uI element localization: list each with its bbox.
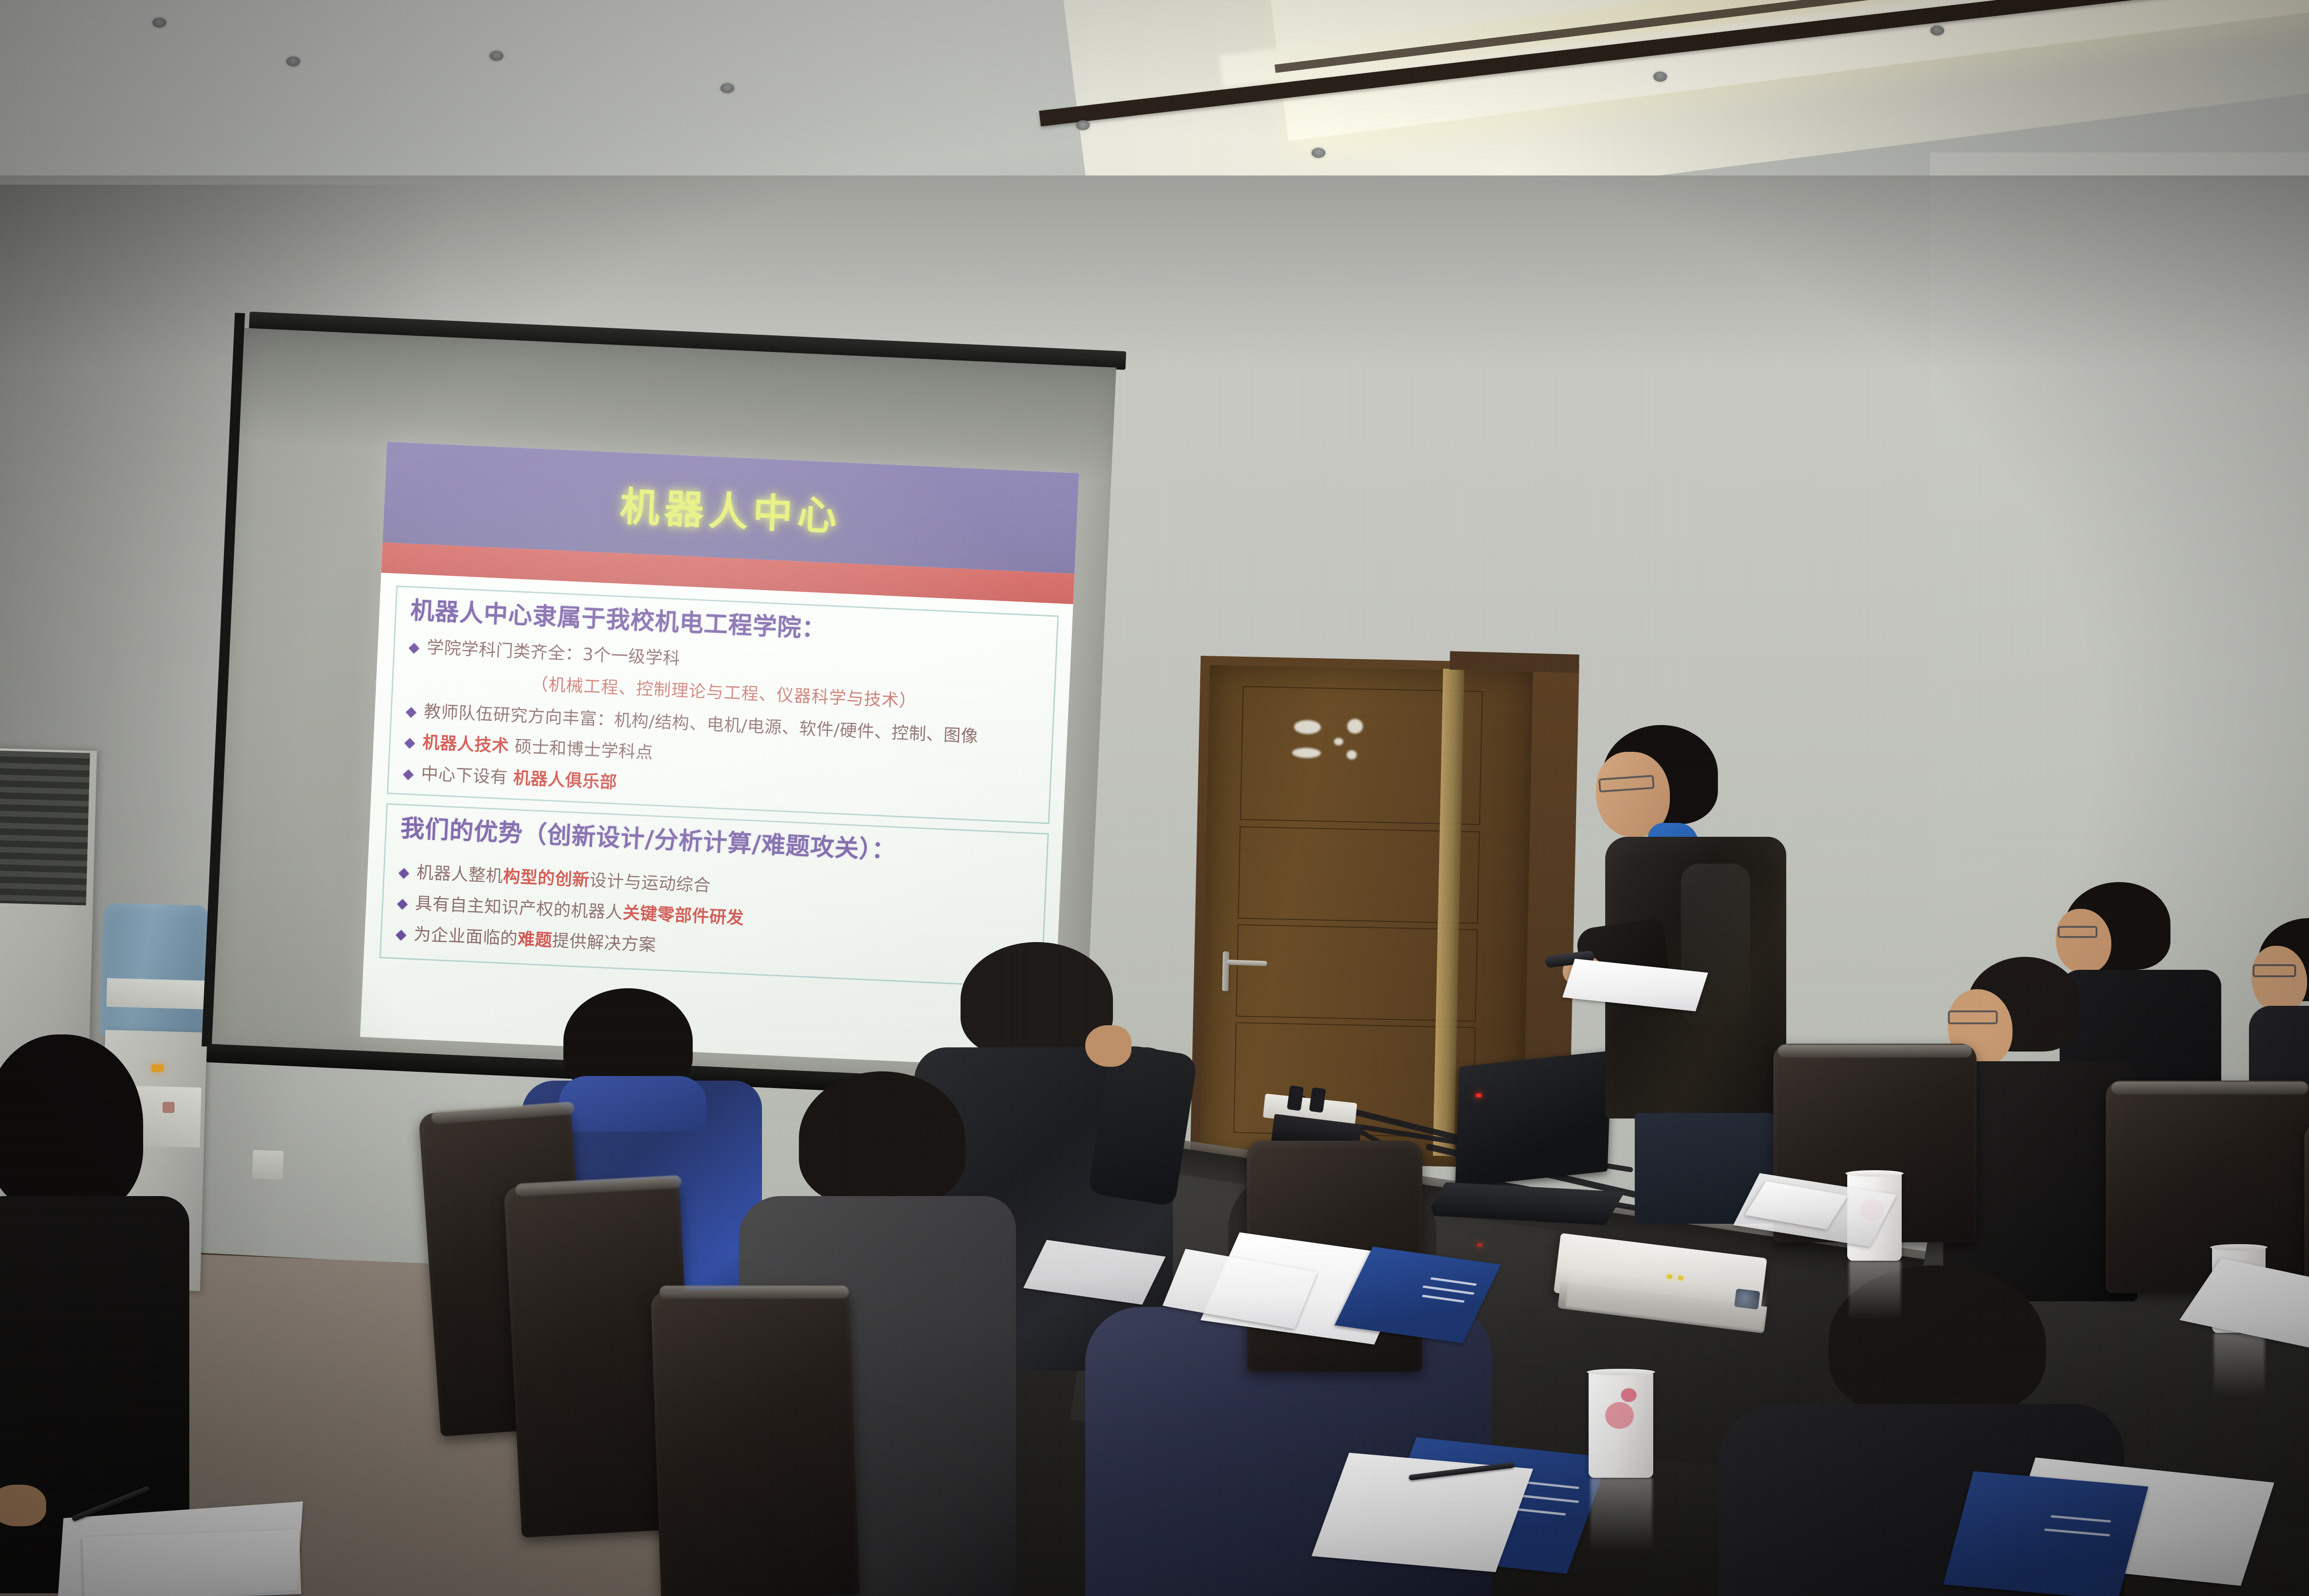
notebook-title-line <box>2044 1529 2110 1536</box>
paper-cup-rim <box>1845 1170 1904 1177</box>
bullet-diamond-icon: ◆ <box>397 897 408 911</box>
notepad-pages[interactable] <box>1312 1453 1533 1572</box>
chair-rim <box>1778 1045 1972 1058</box>
slide-bullet-text: 具有自主知识产权的机器人关键零部件研发 <box>415 893 744 928</box>
bullet-diamond-icon: ◆ <box>403 767 414 781</box>
paper-cup-rim <box>1587 1369 1655 1375</box>
notebook-page-left[interactable] <box>82 1529 302 1596</box>
attendee-hair <box>799 1071 965 1205</box>
paper-cup-motif <box>1621 1388 1637 1402</box>
slide-bullet-text: 机器人整机构型的创新设计与运动综合 <box>416 862 711 896</box>
bullet-diamond-icon: ◆ <box>408 641 419 655</box>
slide-title: 机器人中心 <box>619 474 843 542</box>
slide-bullet-text: 中心下设有 机器人俱乐部 <box>421 763 617 792</box>
notebook-cover[interactable] <box>1943 1471 2148 1596</box>
paper-cup-reflection <box>1590 1478 1652 1552</box>
slide-bullet-text: 学院学科门类齐全：3个一级学科 <box>426 637 681 669</box>
notebook-title-line <box>1430 1277 1477 1286</box>
slide-panel-1: 机器人中心隶属于我校机电工程学院： ◆ 学院学科门类齐全：3个一级学科 （机械工… <box>387 586 1059 824</box>
downlight-icon <box>490 51 503 61</box>
notebook-title-line <box>1422 1295 1465 1303</box>
attendee-hair <box>0 1034 143 1215</box>
slide-heading-2: 我们的优势（创新设计/分析计算/难题攻关）： <box>400 815 1036 871</box>
paper-cup-reflection <box>2214 1333 2265 1397</box>
slide-bullet-highlight: 机器人俱乐部 <box>513 768 617 792</box>
conference-chair[interactable] <box>656 1288 896 1596</box>
paper-cup[interactable] <box>1589 1372 1653 1478</box>
attendee-glasses-icon <box>2058 926 2097 938</box>
slide-bullet-highlight: 关键零部件研发 <box>623 903 744 928</box>
paper-cup-reflection <box>1849 1261 1901 1321</box>
slide-bullet-text: 为企业面临的难题提供解决方案 <box>413 924 657 955</box>
slide-bullet-highlight: 构型的创新 <box>502 866 590 890</box>
downlight-icon <box>1312 148 1325 158</box>
paper-cup-motif <box>1605 1402 1634 1429</box>
air-conditioner-grille-icon <box>0 750 90 906</box>
bullet-diamond-icon: ◆ <box>398 865 409 880</box>
door-head-trim <box>1450 651 1579 673</box>
notebook-title-line <box>2051 1515 2111 1523</box>
wall-socket[interactable] <box>252 1150 284 1179</box>
air-conditioner-button[interactable] <box>0 926 17 944</box>
laptop-power-led <box>1476 1094 1481 1097</box>
slide-bullet-highlight: 难题 <box>517 929 553 950</box>
slide-bullet-text: 机器人技术 硕士和博士学科点 <box>422 732 653 763</box>
downlight-icon <box>286 56 300 66</box>
downlight-icon <box>1076 120 1090 130</box>
screenshot-root: 机器人中心 机器人中心隶属于我校机电工程学院： ◆ 学院学科门类齐全：3个一级学… <box>0 0 2309 1596</box>
downlight-icon <box>152 18 166 28</box>
downlight-icon <box>1653 72 1667 82</box>
slide-bullet-highlight: 机器人技术 <box>422 732 509 756</box>
chair-rim <box>659 1286 849 1299</box>
downlight-icon <box>720 83 734 93</box>
downlight-icon <box>1930 25 1944 36</box>
chair-rim <box>2111 1082 2308 1094</box>
presenter <box>1515 725 1801 1187</box>
chair-back <box>650 1285 859 1596</box>
bullet-diamond-icon: ◆ <box>395 928 406 942</box>
bullet-diamond-icon: ◆ <box>404 736 415 750</box>
attendee-hand <box>0 1485 46 1526</box>
air-conditioner-button[interactable] <box>38 931 59 949</box>
bullet-diamond-icon: ◆ <box>405 705 417 719</box>
attendee-hand <box>1085 1025 1131 1067</box>
notebook-title-line <box>1422 1285 1475 1294</box>
attendee-glasses-icon <box>1948 1010 1998 1024</box>
door-handle[interactable] <box>1222 951 1229 991</box>
attendee-glasses-icon <box>2253 964 2296 977</box>
paper-cup-rim <box>2210 1244 2267 1251</box>
chair-back <box>2106 1081 2309 1293</box>
